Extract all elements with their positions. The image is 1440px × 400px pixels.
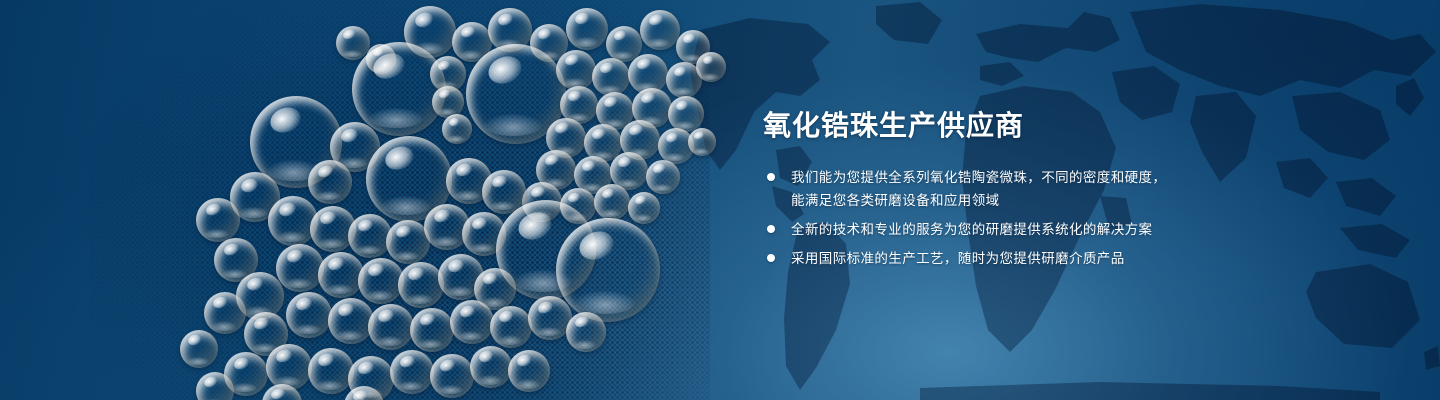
hero-banner: 氧化锆珠生产供应商 我们能为您提供全系列氧化锆陶瓷微珠，不同的密度和硬度， 能满… — [0, 0, 1440, 400]
list-item: 我们能为您提供全系列氧化锆陶瓷微珠，不同的密度和硬度， 能满足您各类研磨设备和应… — [763, 166, 1363, 212]
list-item-label-continued: 能满足您各类研磨设备和应用领域 — [791, 189, 1363, 212]
filled-circle-bullet-icon — [767, 254, 775, 262]
list-item: 采用国际标准的生产工艺，随时为您提供研磨介质产品 — [763, 247, 1363, 270]
filled-circle-bullet-icon — [767, 173, 775, 181]
feature-list: 我们能为您提供全系列氧化锆陶瓷微珠，不同的密度和硬度， 能满足您各类研磨设备和应… — [763, 166, 1363, 270]
zirconia-ceramic-beads-photo — [0, 0, 760, 400]
list-item-label: 全新的技术和专业的服务为您的研磨提供系统化的解决方案 — [791, 218, 1363, 241]
filled-circle-bullet-icon — [767, 225, 775, 233]
list-item-label: 我们能为您提供全系列氧化锆陶瓷微珠，不同的密度和硬度， — [791, 166, 1363, 189]
page-title: 氧化锆珠生产供应商 — [763, 108, 1363, 144]
list-item: 全新的技术和专业的服务为您的研磨提供系统化的解决方案 — [763, 218, 1363, 241]
list-item-label: 采用国际标准的生产工艺，随时为您提供研磨介质产品 — [791, 247, 1363, 270]
banner-text-block: 氧化锆珠生产供应商 我们能为您提供全系列氧化锆陶瓷微珠，不同的密度和硬度， 能满… — [763, 108, 1363, 276]
